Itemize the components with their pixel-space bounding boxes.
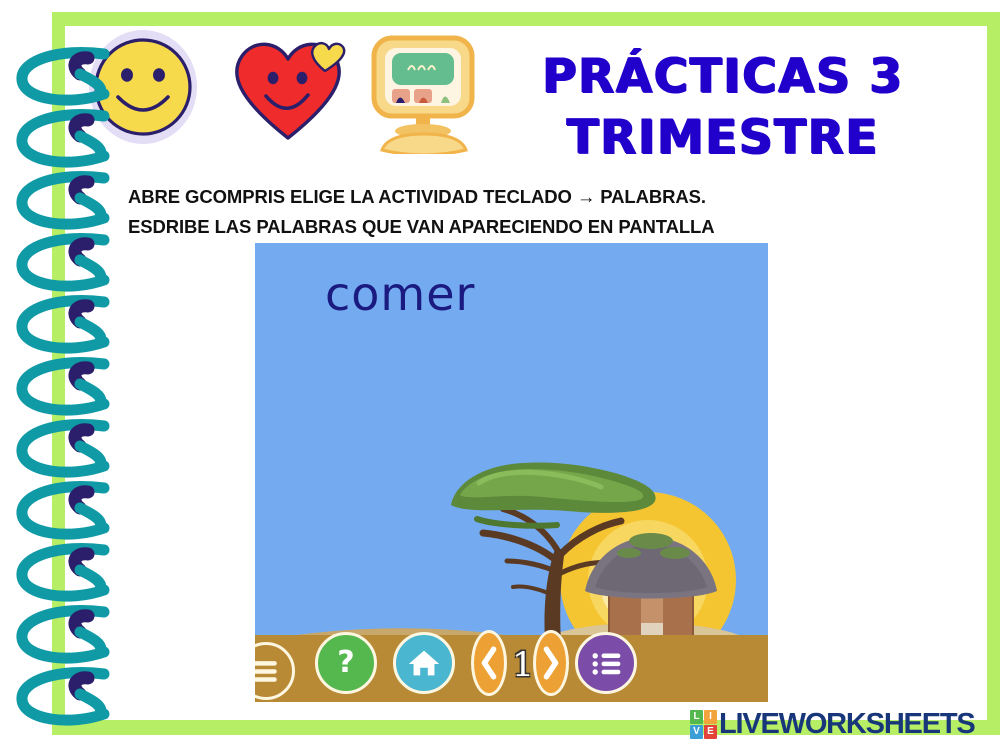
chevron-right-icon	[540, 642, 562, 684]
home-icon	[405, 644, 443, 682]
smiley-icon	[88, 30, 198, 145]
logo-text: LIVEWORKSHEETS	[719, 708, 975, 741]
bars-menu-icon[interactable]	[255, 642, 295, 700]
page-title: PRÁCTICAS 3 TRIMESTRE	[508, 46, 938, 168]
chevron-left-icon	[478, 642, 500, 684]
logo-tile-i: I	[704, 710, 717, 724]
home-button[interactable]	[393, 632, 455, 694]
activity-list-button[interactable]	[575, 632, 637, 694]
svg-text:?: ?	[337, 645, 354, 680]
liveworksheets-logo: LIVE LIVEWORKSHEETS	[690, 707, 975, 741]
logo-tile-e: E	[704, 725, 717, 739]
gcompris-screenshot: comer ? 1	[255, 243, 768, 702]
monitor-icon	[368, 32, 478, 154]
logo-tile-l: L	[690, 710, 703, 724]
activity-word: comer	[325, 267, 475, 321]
title-line-2: TRIMESTRE	[508, 107, 938, 168]
logo-tile-v: V	[690, 725, 703, 739]
list-icon	[588, 645, 624, 681]
instruction-line-2: ESDRIBE LAS PALABRAS QUE VAN APARECIENDO…	[128, 212, 848, 242]
title-line-1: PRÁCTICAS 3	[542, 49, 903, 104]
bars-icon	[255, 653, 284, 689]
instructions-text: ABRE GCOMPRIS ELIGE LA ACTIVIDAD TECLADO…	[128, 182, 848, 242]
next-level-button[interactable]	[533, 630, 569, 696]
logo-tiles: LIVE	[690, 710, 717, 739]
instruction-line-1: ABRE GCOMPRIS ELIGE LA ACTIVIDAD TECLADO…	[128, 182, 848, 212]
previous-level-button[interactable]	[471, 630, 507, 696]
heart-icon	[228, 33, 348, 143]
gcompris-toolbar: ? 1	[255, 635, 768, 702]
help-button[interactable]: ?	[315, 632, 377, 694]
question-mark-icon: ?	[326, 643, 366, 683]
